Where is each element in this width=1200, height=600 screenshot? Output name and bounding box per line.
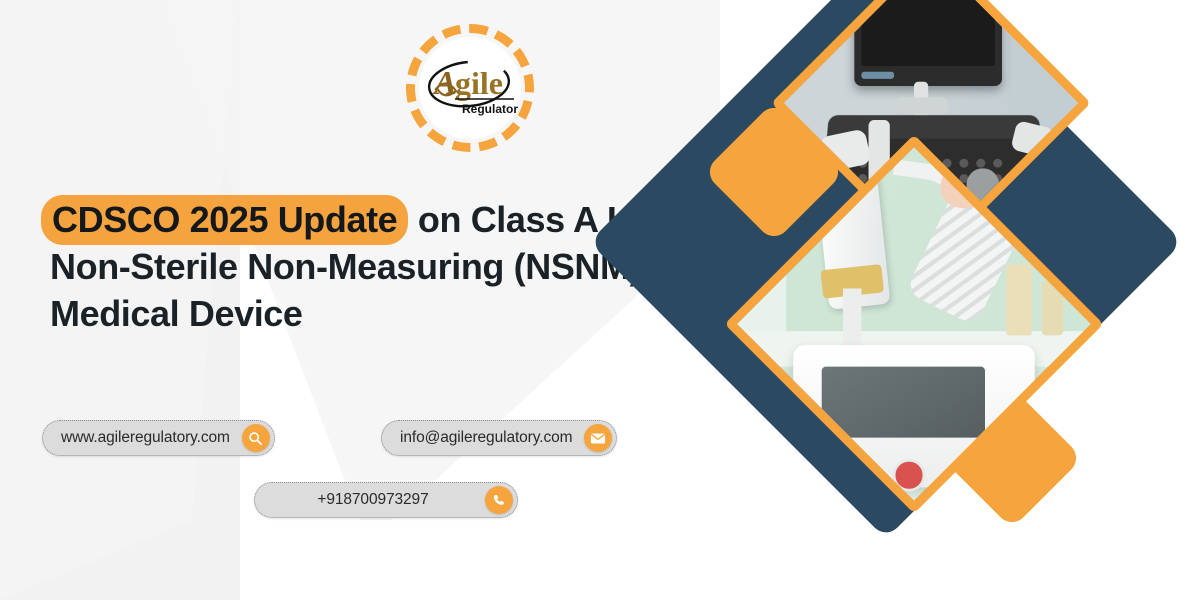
search-icon[interactable] [242, 424, 270, 452]
contact-phone[interactable]: +918700973297 [254, 482, 518, 518]
contact-phone-label: +918700973297 [273, 491, 473, 509]
svg-text:Regulatory: Regulatory [462, 102, 518, 116]
contact-website-label: www.agileregulatory.com [61, 429, 230, 447]
page-title: CDSCO 2025 Update on Class A List Non-St… [50, 196, 690, 337]
banner-root: A gile Regulatory CDSCO 2025 Update on C… [0, 0, 1200, 600]
svg-text:gile: gile [455, 65, 503, 101]
envelope-icon[interactable] [584, 424, 612, 452]
logo-inner-disc: A gile Regulatory [419, 37, 521, 139]
contact-email-label: info@agileregulatory.com [400, 429, 572, 447]
brand-logo[interactable]: A gile Regulatory [406, 24, 534, 152]
phone-icon[interactable] [485, 486, 513, 514]
title-highlight: CDSCO 2025 Update [41, 195, 408, 245]
contact-email[interactable]: info@agileregulatory.com [381, 420, 617, 456]
logo-agile-regulatory-mark: A gile Regulatory [422, 56, 518, 120]
contact-website[interactable]: www.agileregulatory.com [42, 420, 275, 456]
hero-artwork [640, 0, 1200, 600]
